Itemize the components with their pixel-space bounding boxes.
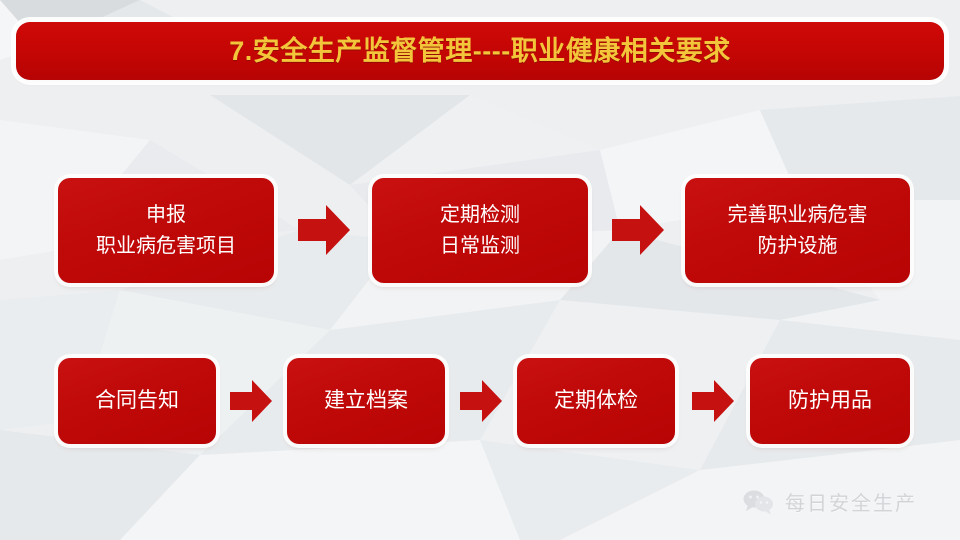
wechat-icon bbox=[742, 489, 776, 515]
slide-title-banner: 7.安全生产监督管理----职业健康相关要求 bbox=[16, 22, 944, 80]
flow-box-row1-1[interactable]: 申报 职业病危害项目 bbox=[58, 178, 274, 283]
flow-box-line: 定期体检 bbox=[554, 385, 638, 418]
flow-box-row2-1[interactable]: 合同告知 bbox=[58, 358, 216, 444]
flow-box-row1-2[interactable]: 定期检测 日常监测 bbox=[372, 178, 588, 283]
flow-box-row2-3[interactable]: 定期体检 bbox=[517, 358, 675, 444]
flow-box-line: 定期检测 bbox=[440, 200, 520, 231]
arrow-right-icon bbox=[692, 380, 734, 422]
flow-box-line: 申报 bbox=[146, 200, 186, 231]
flow-box-row1-3[interactable]: 完善职业病危害 防护设施 bbox=[685, 178, 910, 283]
flow-box-line: 建立档案 bbox=[324, 385, 408, 418]
arrow-right-icon bbox=[460, 380, 502, 422]
arrow-right-icon bbox=[612, 205, 664, 255]
flow-box-line: 防护设施 bbox=[758, 231, 838, 262]
page-title: 7.安全生产监督管理----职业健康相关要求 bbox=[229, 38, 730, 65]
flow-box-line: 职业病危害项目 bbox=[96, 231, 236, 262]
arrow-right-icon bbox=[230, 380, 272, 422]
flow-box-line: 完善职业病危害 bbox=[728, 200, 868, 231]
watermark: 每日安全生产 bbox=[742, 487, 917, 516]
flow-box-line: 防护用品 bbox=[788, 385, 872, 418]
arrow-right-icon bbox=[298, 205, 350, 255]
flow-box-line: 合同告知 bbox=[95, 385, 179, 418]
watermark-label: 每日安全生产 bbox=[785, 487, 917, 516]
flow-box-line: 日常监测 bbox=[440, 231, 520, 262]
slide-canvas: 7.安全生产监督管理----职业健康相关要求 申报 职业病危害项目 定期检测 日… bbox=[0, 0, 960, 540]
flow-box-row2-2[interactable]: 建立档案 bbox=[287, 358, 445, 444]
flow-box-row2-4[interactable]: 防护用品 bbox=[750, 358, 910, 444]
